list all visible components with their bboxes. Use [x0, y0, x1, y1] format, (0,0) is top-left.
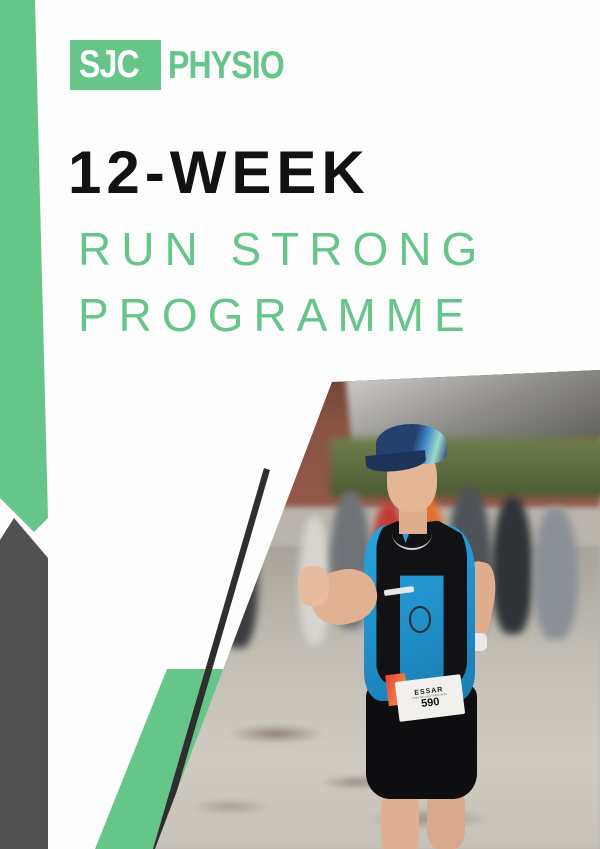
page-title: 12-WEEK: [68, 143, 370, 203]
cover-photo: ESSAR CHESTER HALF MARATHON 590: [150, 360, 600, 849]
runner: ESSAR CHESTER HALF MARATHON 590: [321, 399, 573, 849]
logo-mark-text: SJC: [79, 46, 139, 83]
vest-ring: [409, 606, 431, 632]
page-subtitle-line-1: RUN STRONG: [78, 226, 487, 272]
spectator-blob: [177, 487, 222, 648]
photo-scene: ESSAR CHESTER HALF MARATHON 590: [150, 360, 600, 849]
logo-wordmark: PHYSIO: [161, 40, 309, 90]
race-bib: ESSAR CHESTER HALF MARATHON 590: [394, 674, 464, 722]
spectator-blob: [155, 516, 209, 663]
page-subtitle-line-2: PROGRAMME: [78, 292, 475, 338]
cover-page: ESSAR CHESTER HALF MARATHON 590 SJC PHYS…: [0, 0, 600, 849]
logo-mark: SJC: [70, 40, 161, 90]
left-green-bar: [0, 0, 48, 532]
runner-fist: [298, 566, 328, 606]
logo-word-text: PHYSIO: [168, 47, 284, 84]
brand-logo: SJC PHYSIO: [70, 40, 309, 90]
left-dark-bar: [0, 518, 48, 849]
race-bib-number: 590: [420, 697, 440, 710]
spectator-blob: [150, 497, 191, 644]
runner-necklace: [392, 516, 432, 549]
